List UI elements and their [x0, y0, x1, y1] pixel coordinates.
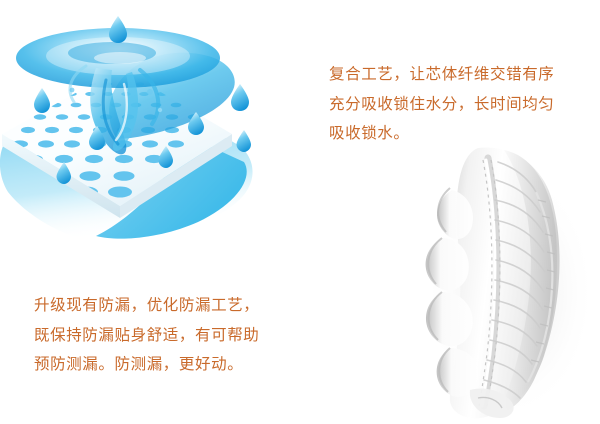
leakguard-description: 升级现有防漏，优化防漏工艺， 既保持防漏贴身舒适，有可帮助 预防测漏。防测漏，更… [34, 291, 259, 380]
leakguard-description-line-1: 升级现有防漏，优化防漏工艺， [34, 291, 259, 321]
leakguard-description-line-2: 既保持防漏贴身舒适，有可帮助 [34, 321, 259, 351]
leakguard-description-line-3: 预防测漏。防测漏，更好动。 [34, 350, 259, 380]
promo-canvas: 复合工艺，让芯体纤维交错有序 充分吸收锁住水分，长时间均匀 吸收锁水。 升级现有… [0, 0, 600, 424]
absorption-description-line-1: 复合工艺，让芯体纤维交错有序 [329, 60, 554, 90]
absorption-description-line-3: 吸收锁水。 [329, 119, 554, 149]
ruffled-leak-guard-photo [392, 142, 600, 422]
absorption-description-line-2: 充分吸收锁住水分，长时间均匀 [329, 90, 554, 120]
absorption-description: 复合工艺，让芯体纤维交错有序 充分吸收锁住水分，长时间均匀 吸收锁水。 [329, 60, 554, 149]
absorption-layers-illustration [0, 6, 300, 272]
